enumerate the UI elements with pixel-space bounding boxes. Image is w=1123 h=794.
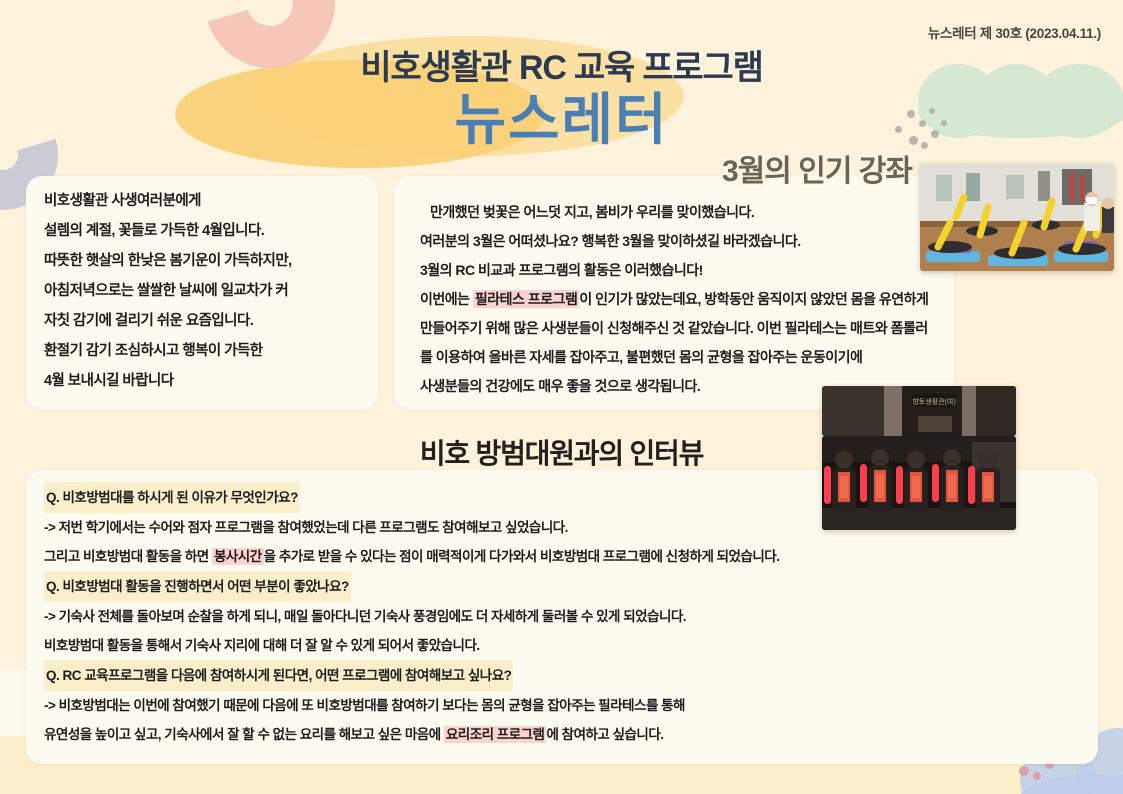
greeting-line-6: 4월 보내시길 바랍니다 <box>44 366 374 396</box>
interview-answer-3-line-2: 유연성을 높이고 싶고, 기숙사에서 잘 할 수 없는 요리를 해보고 싶은 마… <box>44 720 1094 749</box>
greeting-line-2: 따뜻한 햇살의 한낮은 봄기운이 가득하지만, <box>44 246 374 276</box>
interview-answer-1-line-2-part-b: 을 추가로 받을 수 있다는 점이 매력적이게 다가와서 비호방범대 프로그램에… <box>264 549 780 564</box>
interview-answer-2-line-1: -> 기숙사 전체를 돌아보며 순찰을 하게 되니, 매일 돌아다니던 기숙사 … <box>44 602 1094 631</box>
main-line-4: 이번에는 필라테스 프로그램이 인기가 많았는데요, 방학동안 움직이지 않았던… <box>420 285 1112 314</box>
interview-answer-3-line-1: -> 비호방범대는 이번에 참여했기 때문에 다음에 또 비호방범대를 참여하기… <box>44 691 1094 720</box>
photo-patrol-team <box>822 436 1016 530</box>
interview-question-3-row: Q. RC 교육프로그램을 다음에 참여하시게 된다면, 어떤 프로그램에 참여… <box>44 660 1094 691</box>
pilates-photo-illustration <box>920 163 1114 271</box>
photo-dormitory-building: 향토생활관(여) <box>822 386 1016 436</box>
highlight-cooking-program: 요리조리 프로그램 <box>444 726 547 743</box>
page-title: 비호생활관 RC 교육 프로그램 <box>0 40 1123 89</box>
interview-answer-1-line-2-part-a: 그리고 비호방범대 활동을 하면 <box>44 549 212 564</box>
greeting-line-1: 설렘의 계절, 꽃들로 가득한 4월입니다. <box>44 216 374 246</box>
greeting-heading: 비호생활관 사생여러분에게 <box>44 186 374 216</box>
page-subtitle: 뉴스레터 <box>0 92 1123 148</box>
interview-answer-3-line-2-part-a: 유연성을 높이고 싶고, 기숙사에서 잘 할 수 없는 요리를 해보고 싶은 마… <box>44 727 444 742</box>
greeting-text-block: 비호생활관 사생여러분에게 설렘의 계절, 꽃들로 가득한 4월입니다. 따뜻한… <box>44 186 374 396</box>
main-line-6: 를 이용하여 올바른 자세를 잡아주고, 불편했던 몸의 균형을 잡아주는 운동… <box>420 343 1112 372</box>
greeting-line-5: 환절기 감기 조심하시고 행복이 가득한 <box>44 336 374 366</box>
highlight-volunteer-hours: 봉사시간 <box>212 548 264 565</box>
highlight-pilates-program: 필라테스 프로그램 <box>473 290 579 308</box>
interview-question-2: Q. 비호방범대 활동을 진행하면서 어떤 부분이 좋았나요? <box>44 571 351 602</box>
section-heading-popular-course: 3월의 인기 강좌 <box>722 146 912 190</box>
main-line-4-part-a: 이번에는 <box>420 291 473 307</box>
dormitory-photo-illustration: 향토생활관(여) <box>822 386 1016 436</box>
greeting-line-4: 자칫 감기에 걸리기 쉬운 요즘입니다. <box>44 306 374 336</box>
main-line-5: 만들어주기 위해 많은 사생분들이 신청해주신 것 같았습니다. 이번 필라테스… <box>420 314 1112 343</box>
interview-question-2-row: Q. 비호방범대 활동을 진행하면서 어떤 부분이 좋았나요? <box>44 571 1094 602</box>
greeting-line-3: 아침저녁으로는 쌀쌀한 날씨에 일교차가 커 <box>44 276 374 306</box>
dorm-sign-text: 향토생활관(여) <box>912 397 955 406</box>
interview-question-3: Q. RC 교육프로그램을 다음에 참여하시게 된다면, 어떤 프로그램에 참여… <box>44 660 513 691</box>
patrol-team-photo-illustration <box>822 436 1016 530</box>
photo-pilates-class <box>920 163 1114 271</box>
interview-question-1: Q. 비호방범대를 하시게 된 이유가 무엇인가요? <box>44 482 300 513</box>
interview-answer-3-line-2-part-b: 에 참여하고 싶습니다. <box>546 727 663 742</box>
interview-answer-2-line-2: 비호방범대 활동을 통해서 기숙사 지리에 대해 더 잘 알 수 있게 되어서 … <box>44 631 1094 660</box>
main-line-4-part-b: 이 인기가 많았는데요, 방학동안 움직이지 않았던 몸을 유연하게 <box>579 291 928 307</box>
issue-label: 뉴스레터 제 30호 (2023.04.11.) <box>928 22 1101 42</box>
interview-answer-1-line-2: 그리고 비호방범대 활동을 하면 봉사시간을 추가로 받을 수 있다는 점이 매… <box>44 542 1094 571</box>
